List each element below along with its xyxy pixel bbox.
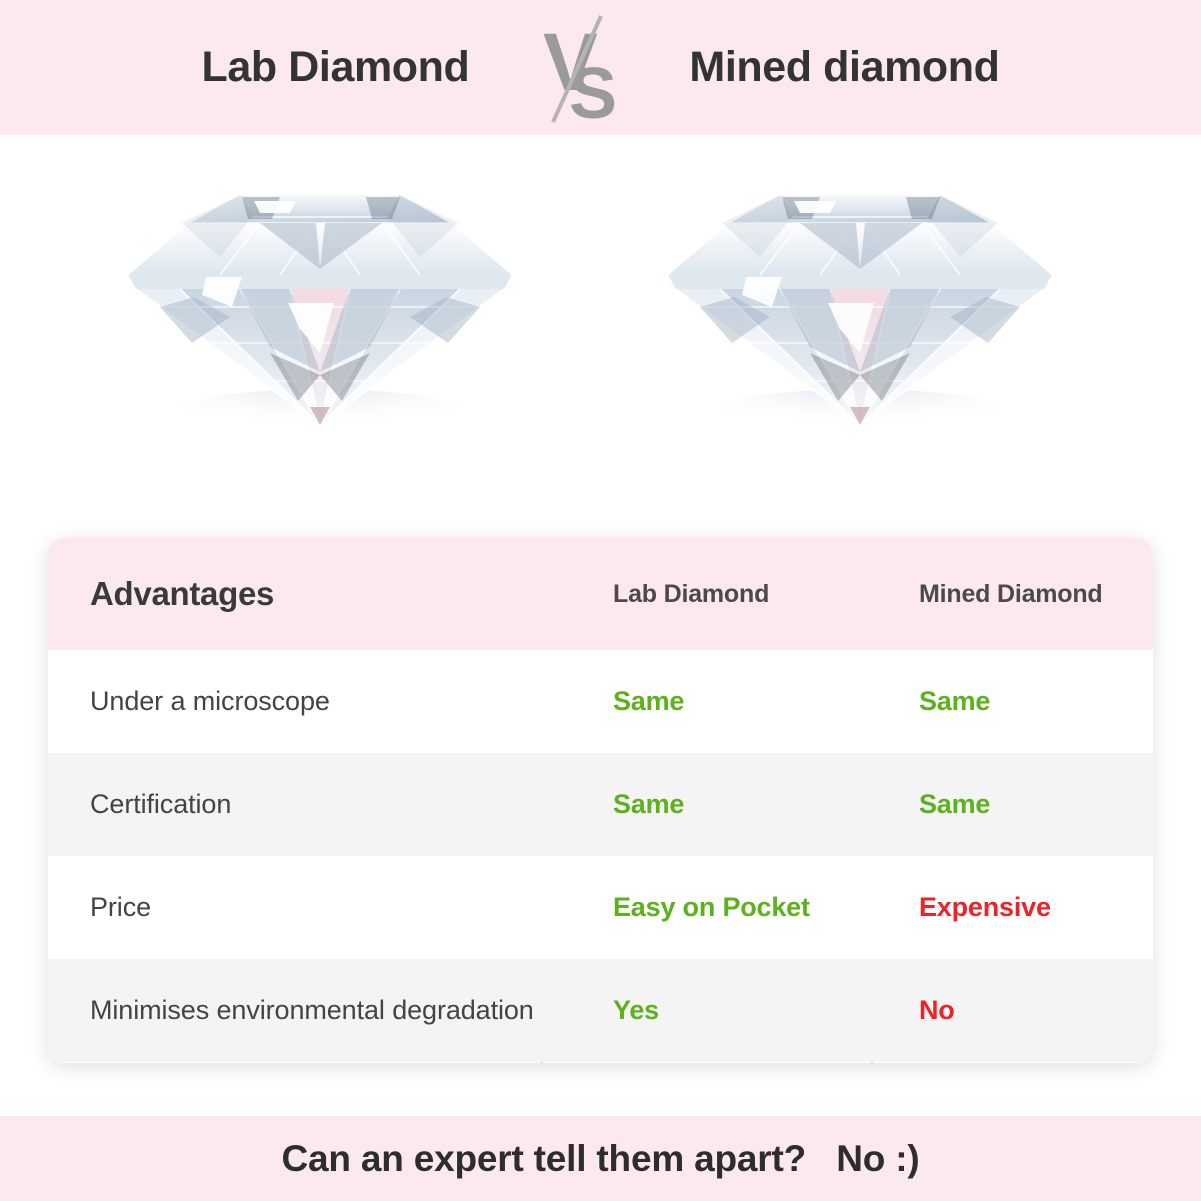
mined-diamond-image (660, 157, 1060, 457)
row-lab-cell: Same (541, 650, 871, 753)
lab-diamond-title: Lab Diamond (201, 43, 469, 92)
header-banner: Lab Diamond V S Mined diamond (0, 0, 1201, 135)
header-label-lab: Lab Diamond (613, 580, 769, 609)
row-lab-value: Yes (613, 995, 659, 1026)
row-feature-label: Minimises environmental degradation (90, 993, 534, 1029)
row-lab-cell: Easy on Pocket (541, 856, 871, 959)
row-feature-label: Certification (90, 787, 231, 823)
svg-text:S: S (569, 54, 617, 124)
lab-diamond-image (120, 157, 520, 457)
table-row: Minimises environmental degradation Yes … (48, 959, 1153, 1062)
row-lab-value: Same (613, 789, 684, 820)
header-cell-lab: Lab Diamond (541, 538, 871, 650)
vs-icon: V S (531, 12, 627, 124)
header-label-advantages: Advantages (90, 575, 274, 613)
row-feature-label: Under a microscope (90, 684, 330, 720)
row-lab-value: Easy on Pocket (613, 892, 810, 923)
row-feature-cell: Price (48, 856, 541, 959)
mined-diamond-title: Mined diamond (689, 43, 999, 92)
row-mined-value: Expensive (919, 892, 1051, 923)
header-cell-mined: Mined Diamond (871, 538, 1153, 650)
table-row: Price Easy on Pocket Expensive (48, 856, 1153, 959)
row-mined-cell: Expensive (871, 856, 1153, 959)
row-lab-value: Same (613, 686, 684, 717)
row-mined-cell: Same (871, 753, 1153, 856)
row-lab-cell: Yes (541, 959, 871, 1062)
row-feature-cell: Under a microscope (48, 650, 541, 753)
row-mined-value: Same (919, 686, 990, 717)
row-feature-cell: Minimises environmental degradation (48, 959, 541, 1062)
row-mined-value: No (919, 995, 955, 1026)
table-header-row: Advantages Lab Diamond Mined Diamond (48, 538, 1153, 650)
row-feature-label: Price (90, 890, 151, 926)
header-cell-advantages: Advantages (48, 538, 541, 650)
row-mined-cell: No (871, 959, 1153, 1062)
table-row: Certification Same Same (48, 753, 1153, 856)
infographic-page: Lab Diamond V S Mined diamond (0, 0, 1201, 1201)
header-label-mined: Mined Diamond (919, 580, 1103, 609)
footer-question: Can an expert tell them apart? No :) (282, 1138, 920, 1180)
row-lab-cell: Same (541, 753, 871, 856)
diamond-stage (0, 135, 1201, 535)
comparison-table: Advantages Lab Diamond Mined Diamond Und… (48, 538, 1153, 1063)
row-mined-cell: Same (871, 650, 1153, 753)
footer-banner: Can an expert tell them apart? No :) (0, 1116, 1201, 1201)
table-row: Under a microscope Same Same (48, 650, 1153, 753)
row-mined-value: Same (919, 789, 990, 820)
row-feature-cell: Certification (48, 753, 541, 856)
